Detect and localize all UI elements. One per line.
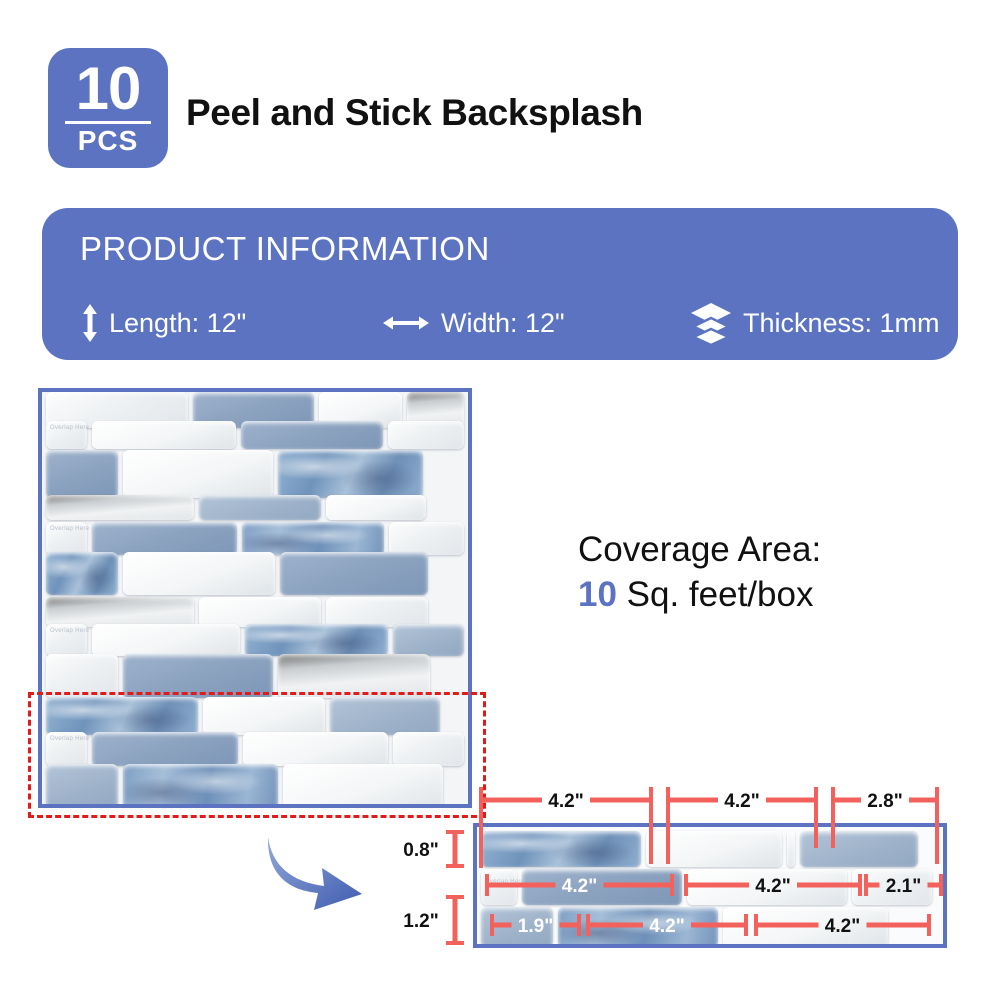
dimension-label: 4.2" — [548, 791, 583, 812]
tile — [92, 522, 237, 555]
tile — [278, 450, 423, 498]
tile — [46, 597, 194, 627]
tile-row — [42, 495, 468, 520]
overlap-here-watermark: Overlap Here — [50, 628, 89, 635]
tile — [388, 421, 464, 449]
tile — [280, 552, 428, 595]
dimension-label: 2.8" — [867, 791, 902, 812]
tile — [326, 597, 428, 627]
detail-tile — [481, 831, 641, 867]
coverage-area-unit: Sq. feet/box — [617, 575, 814, 614]
detail-tile — [481, 907, 553, 947]
pcs-count: 10 — [76, 60, 141, 118]
product-information-panel: PRODUCT INFORMATION Length: 12" Width: 1… — [42, 208, 958, 360]
detail-tile — [852, 869, 932, 905]
horizontal-arrow-icon — [380, 312, 432, 334]
tile — [123, 552, 275, 595]
tile-dimension-detail-panel: Overlap Here — [473, 823, 947, 948]
tile-row — [42, 522, 468, 555]
tile — [242, 522, 384, 555]
overlap-here-watermark: Overlap Here — [50, 526, 89, 533]
detail-tile — [723, 907, 888, 947]
tile — [389, 522, 464, 555]
coverage-area-block: Coverage Area: 10 Sq. feet/box — [578, 528, 821, 618]
tile-row — [42, 597, 468, 627]
pcs-unit-label: PCS — [78, 126, 139, 156]
tile — [92, 624, 240, 656]
selection-highlight-dashed-box — [28, 692, 486, 818]
coverage-area-label: Coverage Area: — [578, 528, 821, 572]
detail-tile — [687, 869, 847, 905]
dimension-label: 4.2" — [724, 791, 759, 812]
tile-row — [42, 421, 468, 449]
tile — [46, 450, 118, 498]
tile — [241, 421, 382, 449]
detail-tile-row — [477, 907, 943, 947]
detail-tile — [558, 907, 718, 947]
curved-arrow-icon — [258, 832, 388, 922]
spec-thickness-label: Thickness: 1mm — [743, 300, 940, 346]
spec-length-label: Length: 12" — [109, 300, 246, 346]
detail-tile — [481, 869, 517, 905]
detail-tile — [787, 831, 795, 867]
tile-row — [42, 624, 468, 656]
detail-tile — [522, 869, 682, 905]
tile — [46, 552, 118, 595]
detail-tile-row — [477, 831, 943, 867]
layers-icon — [688, 301, 734, 345]
tile — [245, 624, 388, 656]
tile — [46, 495, 194, 520]
dimension-label: 0.8" — [403, 840, 438, 861]
overlap-here-watermark: Overlap Here — [50, 425, 89, 432]
spec-thickness: Thickness: 1mm — [688, 300, 940, 346]
vertical-arrow-icon — [80, 301, 100, 345]
spec-width: Width: 12" — [380, 300, 565, 346]
detail-tile — [646, 831, 782, 867]
spec-length: Length: 12" — [80, 300, 246, 346]
page-title: Peel and Stick Backsplash — [186, 92, 643, 134]
badge-divider — [65, 121, 151, 124]
spec-width-label: Width: 12" — [441, 300, 565, 346]
product-information-heading: PRODUCT INFORMATION — [80, 230, 490, 268]
pcs-badge: 10 PCS — [48, 48, 168, 168]
tile-row — [42, 450, 468, 498]
tile — [326, 495, 426, 520]
overlap-here-watermark: Overlap Here — [485, 879, 524, 886]
coverage-area-value-line: 10 Sq. feet/box — [578, 572, 821, 618]
detail-tile-row — [477, 869, 943, 905]
tile — [199, 597, 321, 627]
dimension-label: 1.2" — [403, 911, 438, 932]
spec-row: Length: 12" Width: 12" Thickness: 1mm — [80, 300, 946, 346]
tile — [123, 450, 273, 498]
tile — [92, 421, 236, 449]
tile — [199, 495, 321, 520]
coverage-area-value: 10 — [578, 575, 617, 614]
detail-tile — [800, 831, 918, 867]
tile-row — [42, 552, 468, 595]
tile — [393, 624, 464, 656]
